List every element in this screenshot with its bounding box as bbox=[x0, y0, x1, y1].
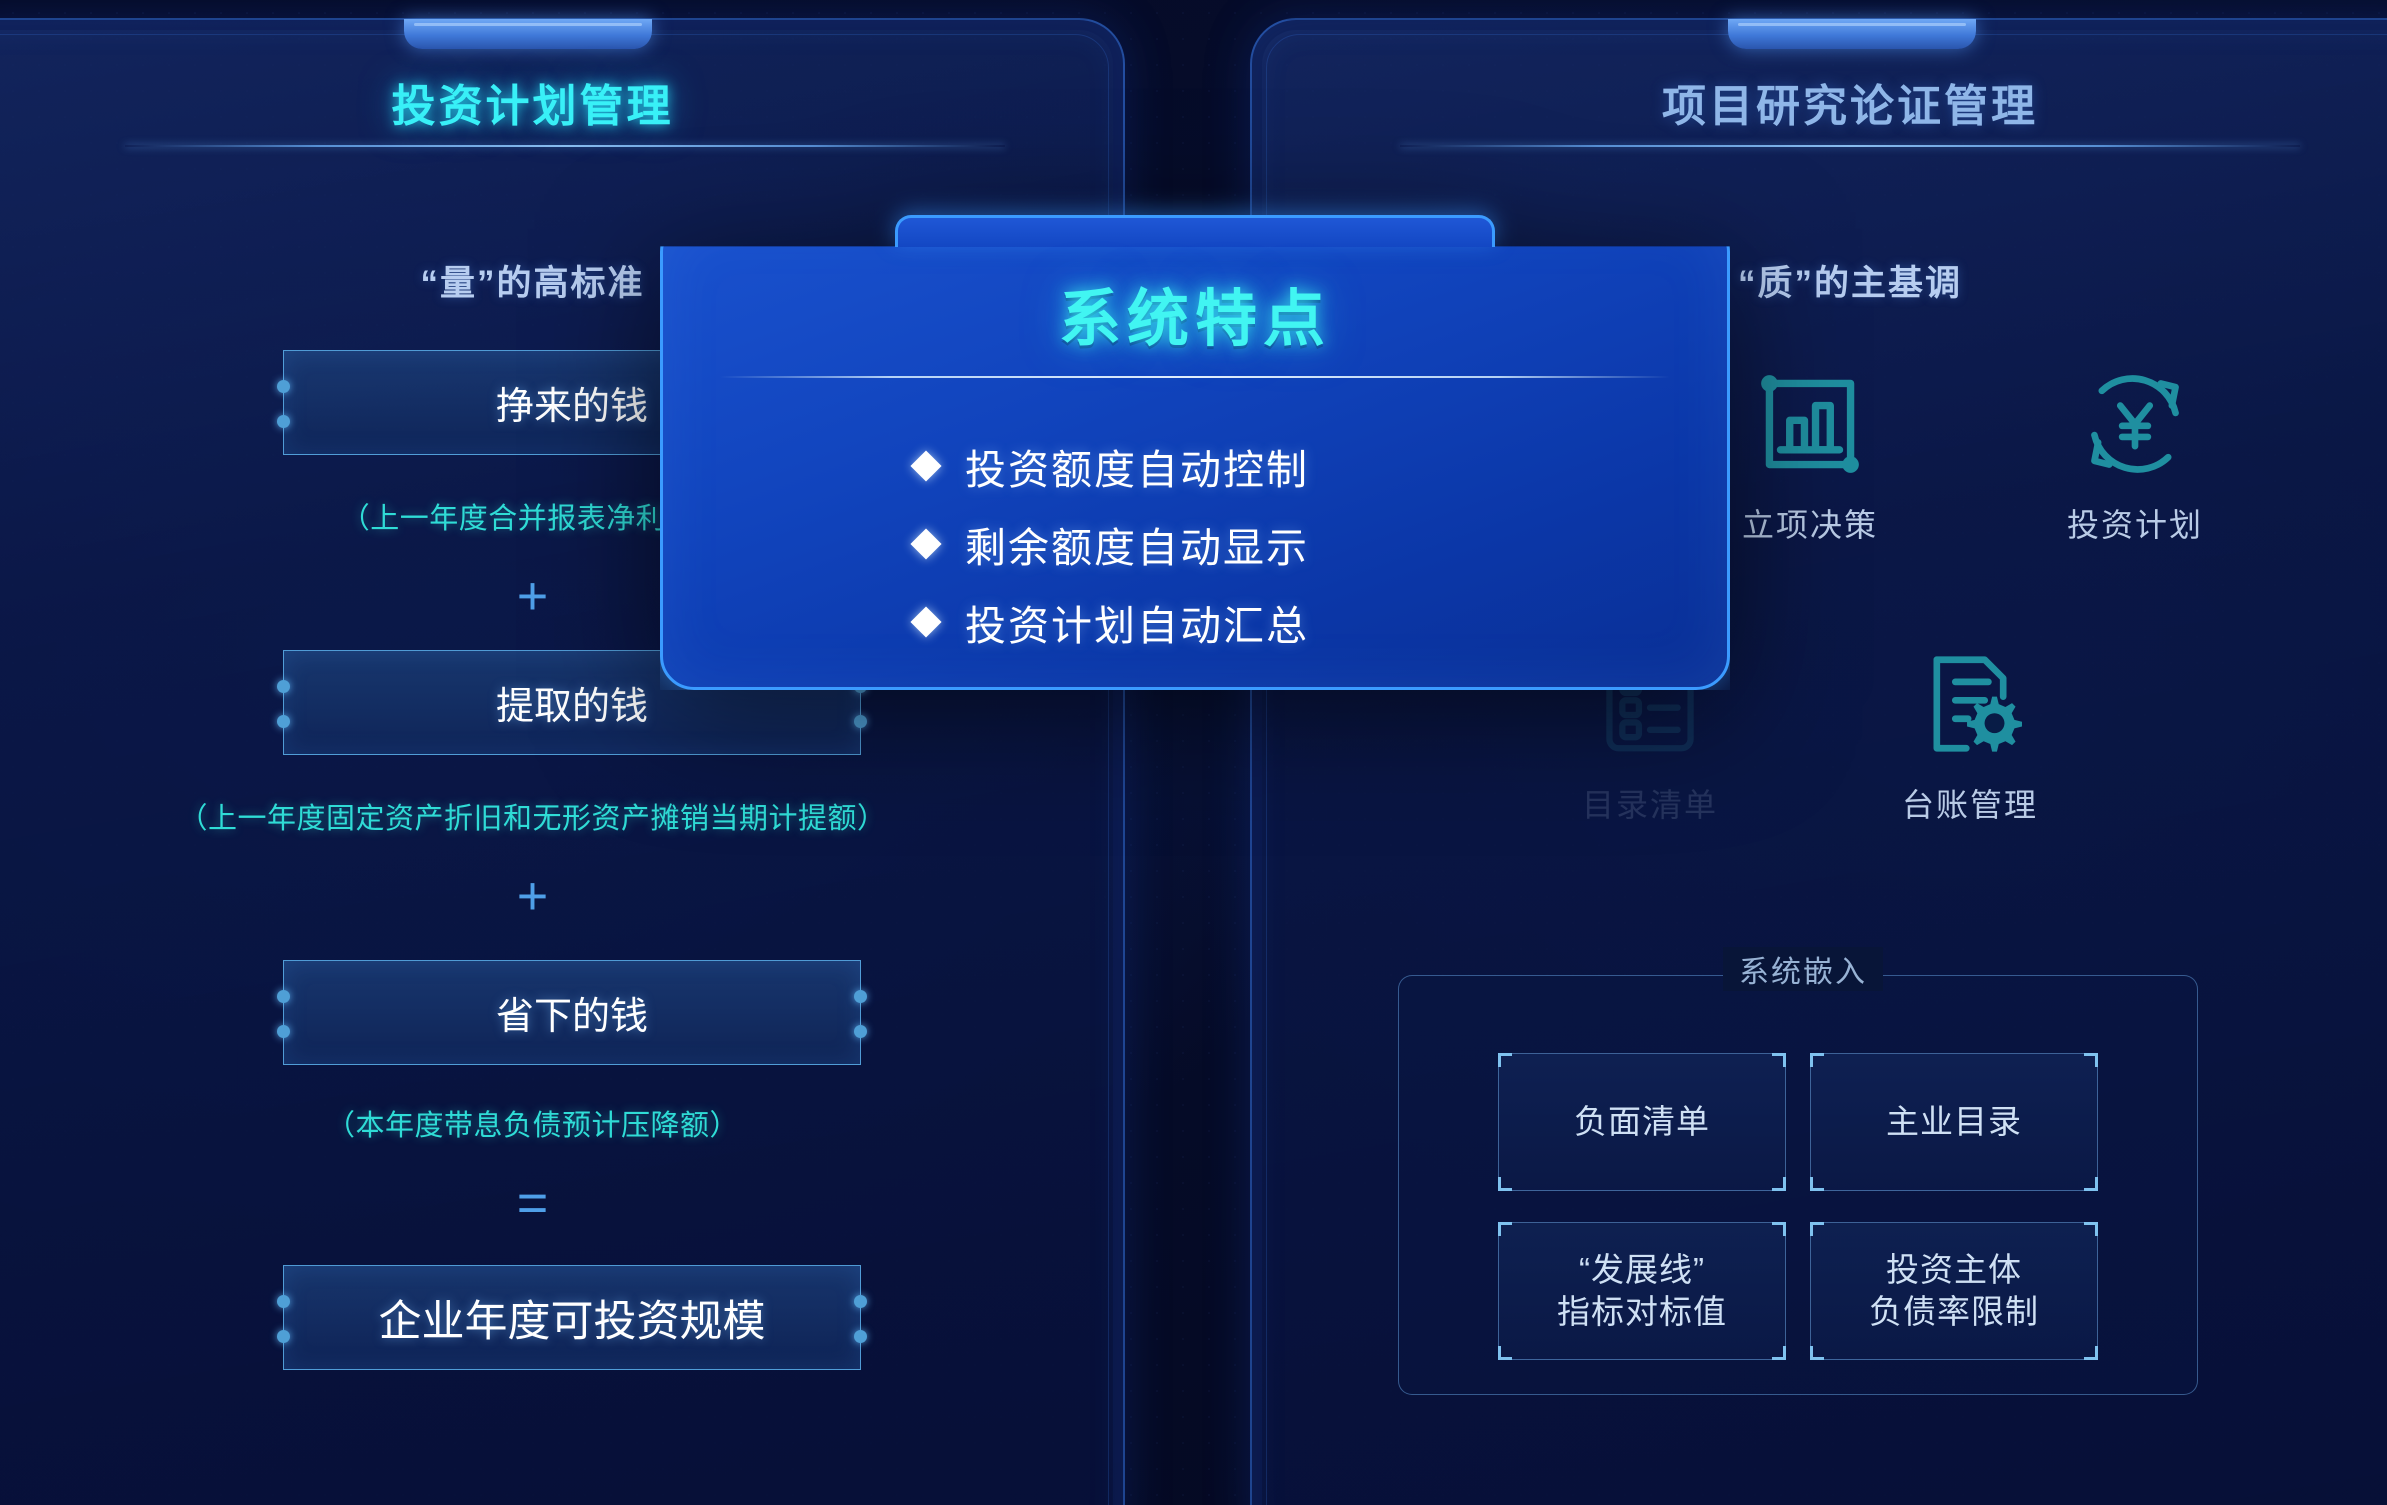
panel-top-tab bbox=[404, 19, 652, 49]
popup-feature-label: 投资额度自动控制 bbox=[965, 436, 1309, 496]
embed-cell-investor-debt-ratio-limit[interactable]: 投资主体 负债率限制 bbox=[1810, 1222, 2098, 1360]
corner-bracket bbox=[1772, 1177, 1786, 1191]
document-gear-icon bbox=[1845, 640, 2095, 768]
embed-cell-development-line-benchmark[interactable]: “发展线” 指标对标值 bbox=[1498, 1222, 1786, 1360]
connector-dot bbox=[277, 415, 290, 428]
icon-label: 投资计划 bbox=[2010, 500, 2260, 546]
formula-box-saved[interactable]: 省下的钱 bbox=[283, 960, 861, 1065]
popup-feature-item: 投资额度自动控制 bbox=[915, 436, 1475, 496]
icon-label: 台账管理 bbox=[1845, 780, 2095, 826]
connector-dot bbox=[277, 380, 290, 393]
corner-bracket bbox=[1810, 1222, 1824, 1236]
diamond-bullet-icon bbox=[910, 450, 941, 481]
connector-dot bbox=[854, 1025, 867, 1038]
yen-refresh-icon bbox=[2010, 360, 2260, 488]
right-title-divider bbox=[1400, 145, 2300, 147]
formula-note-depreciation: （上一年度固定资产折旧和无形资产摊销当期计提额） bbox=[0, 795, 1125, 837]
popup-feature-label: 投资计划自动汇总 bbox=[965, 592, 1309, 652]
corner-bracket bbox=[1498, 1053, 1512, 1067]
popup-feature-label: 剩余额度自动显示 bbox=[965, 514, 1309, 574]
corner-bracket bbox=[1498, 1177, 1512, 1191]
formula-box-total-scale[interactable]: 企业年度可投资规模 bbox=[283, 1265, 861, 1370]
embed-cell-label: 主业目录 bbox=[1886, 1101, 2022, 1143]
icon-cell-ledger-management[interactable]: 台账管理 bbox=[1845, 640, 2095, 826]
corner-bracket bbox=[2084, 1346, 2098, 1360]
corner-bracket bbox=[1772, 1053, 1786, 1067]
popup-feature-item: 剩余额度自动显示 bbox=[915, 514, 1475, 574]
left-panel-title: 投资计划管理 bbox=[0, 70, 1125, 134]
embed-cell-negative-list[interactable]: 负面清单 bbox=[1498, 1053, 1786, 1191]
formula-box-label: 企业年度可投资规模 bbox=[379, 1287, 766, 1349]
connector-dot bbox=[277, 715, 290, 728]
connector-dot bbox=[277, 990, 290, 1003]
formula-operator-plus-2: + bbox=[0, 865, 1125, 927]
embed-cell-label-line1: “发展线” bbox=[1579, 1249, 1705, 1291]
diamond-bullet-icon bbox=[910, 606, 941, 637]
connector-dot bbox=[854, 990, 867, 1003]
connector-dot bbox=[277, 680, 290, 693]
slide-canvas: 投资计划管理 “量”的高标准 挣来的钱 （上一年度合并报表净利润） + 提取的钱… bbox=[0, 0, 2387, 1505]
corner-bracket bbox=[2084, 1053, 2098, 1067]
formula-box-label: 省下的钱 bbox=[496, 985, 648, 1040]
connector-dot bbox=[854, 715, 867, 728]
connector-dot bbox=[277, 1330, 290, 1343]
system-features-popup[interactable]: 系统特点 投资额度自动控制 剩余额度自动显示 投资计划自动汇总 bbox=[660, 218, 1730, 690]
corner-bracket bbox=[2084, 1222, 2098, 1236]
connector-dot bbox=[854, 1330, 867, 1343]
connector-dot bbox=[854, 1295, 867, 1308]
icon-label: 目录清单 bbox=[1525, 780, 1775, 826]
corner-bracket bbox=[2084, 1177, 2098, 1191]
system-embed-label: 系统嵌入 bbox=[1723, 947, 1883, 991]
corner-bracket bbox=[1772, 1346, 1786, 1360]
popup-feature-item: 投资计划自动汇总 bbox=[915, 592, 1475, 652]
corner-bracket bbox=[1810, 1053, 1824, 1067]
embed-cell-label: 负面清单 bbox=[1574, 1101, 1710, 1143]
corner-bracket bbox=[1810, 1346, 1824, 1360]
formula-operator-equals: = bbox=[0, 1172, 1125, 1234]
popup-divider bbox=[720, 376, 1670, 378]
corner-bracket bbox=[1772, 1222, 1786, 1236]
embed-cell-main-business-catalog[interactable]: 主业目录 bbox=[1810, 1053, 2098, 1191]
embed-cell-label-line2: 指标对标值 bbox=[1557, 1291, 1727, 1333]
corner-bracket bbox=[1498, 1346, 1512, 1360]
left-title-divider bbox=[125, 145, 1005, 147]
corner-bracket bbox=[1498, 1222, 1512, 1236]
embed-cell-label-line2: 负债率限制 bbox=[1869, 1291, 2039, 1333]
panel-top-tab bbox=[1728, 19, 1976, 49]
diamond-bullet-icon bbox=[910, 528, 941, 559]
icon-cell-investment-plan[interactable]: 投资计划 bbox=[2010, 360, 2260, 546]
formula-box-label: 挣来的钱 bbox=[496, 375, 648, 430]
embed-cell-label-line1: 投资主体 bbox=[1886, 1249, 2022, 1291]
corner-bracket bbox=[1810, 1177, 1824, 1191]
formula-box-label: 提取的钱 bbox=[496, 675, 648, 730]
connector-dot bbox=[277, 1295, 290, 1308]
formula-note-saved: （本年度带息负债预计压降额） bbox=[0, 1102, 1125, 1144]
popup-feature-list: 投资额度自动控制 剩余额度自动显示 投资计划自动汇总 bbox=[660, 436, 1730, 652]
connector-dot bbox=[277, 1025, 290, 1038]
right-panel-title: 项目研究论证管理 bbox=[1250, 70, 2387, 134]
popup-title: 系统特点 bbox=[660, 268, 1730, 358]
popup-top-notch bbox=[895, 215, 1494, 247]
